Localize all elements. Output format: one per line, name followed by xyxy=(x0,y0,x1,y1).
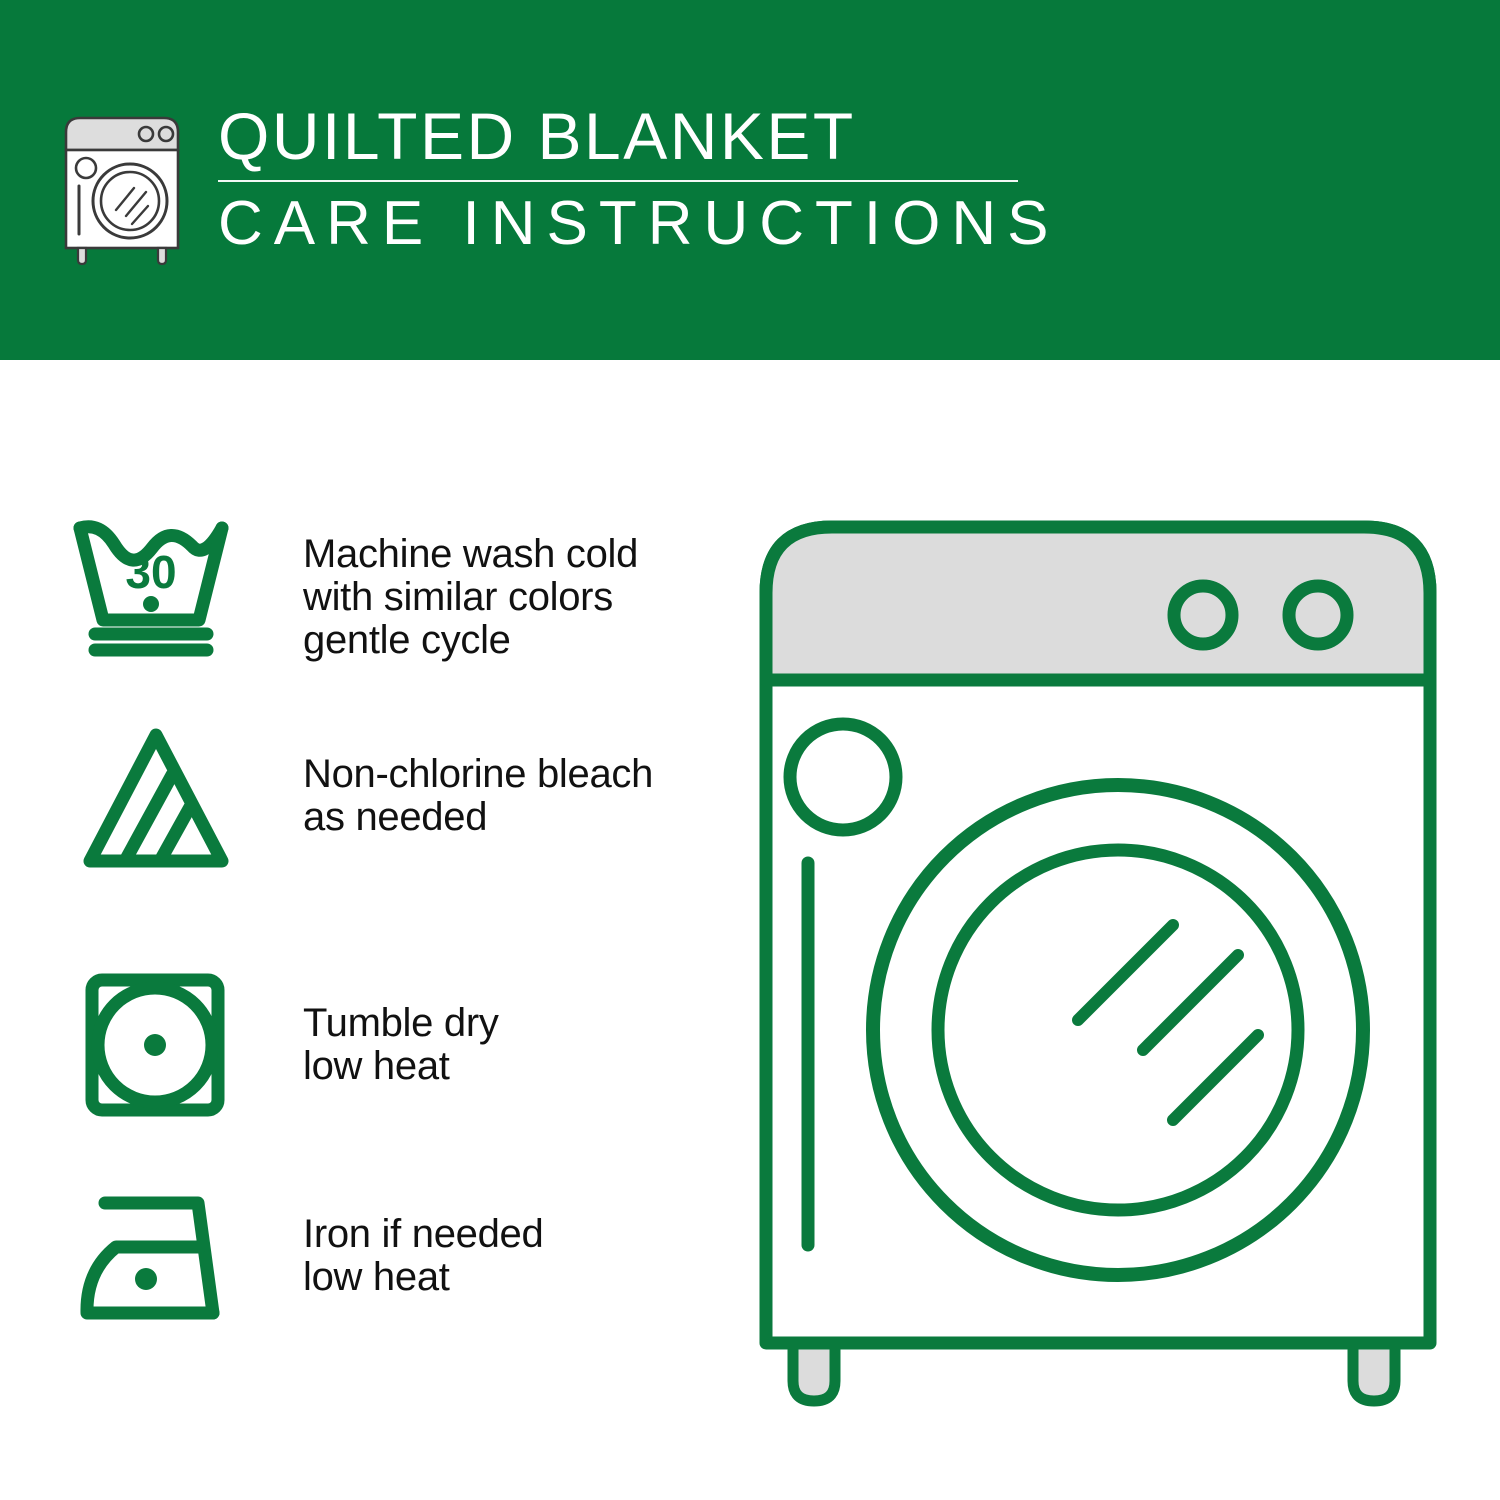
care-instruction-text: Non-chlorine bleach as needed xyxy=(240,723,720,839)
care-text-line: gentle cycle xyxy=(303,619,720,662)
care-instruction-row: Iron if needed low heat xyxy=(60,1185,720,1335)
care-text-line: low heat xyxy=(303,1256,720,1299)
care-text-line: with similar colors xyxy=(303,576,720,619)
care-text-line: Non-chlorine bleach xyxy=(303,753,720,796)
bleach-triangle-non-chlorine-icon xyxy=(60,723,240,873)
front-load-washing-machine-illustration xyxy=(748,505,1448,1425)
header-band: QUILTED BLANKET CARE INSTRUCTIONS xyxy=(0,0,1500,360)
wash-tub-30-gentle-icon: 30 xyxy=(60,508,240,658)
title-divider xyxy=(218,180,1018,182)
iron-low-heat-icon xyxy=(60,1185,240,1335)
care-instruction-text: Machine wash cold with similar colors ge… xyxy=(240,508,720,662)
care-instruction-text: Tumble dry low heat xyxy=(240,970,720,1088)
page-subtitle: CARE INSTRUCTIONS xyxy=(218,188,1088,260)
header-content: QUILTED BLANKET CARE INSTRUCTIONS xyxy=(58,98,1058,278)
wash-temperature-value: 30 xyxy=(125,546,176,598)
care-text-line: low heat xyxy=(303,1045,720,1088)
washing-machine-icon xyxy=(58,106,186,266)
care-instruction-row: Non-chlorine bleach as needed xyxy=(60,723,720,873)
header-text-block: QUILTED BLANKET CARE INSTRUCTIONS xyxy=(218,98,1088,260)
care-instruction-text: Iron if needed low heat xyxy=(240,1185,720,1299)
page-title: QUILTED BLANKET xyxy=(218,98,1088,174)
care-instruction-row: Tumble dry low heat xyxy=(60,970,720,1120)
care-text-line: Tumble dry xyxy=(303,1002,720,1045)
care-instructions-poster: QUILTED BLANKET CARE INSTRUCTIONS xyxy=(0,0,1500,1500)
care-instruction-row: 30 Machine wash cold with similar colors… xyxy=(60,508,720,662)
care-text-line: Machine wash cold xyxy=(303,533,720,576)
tumble-dry-low-heat-icon xyxy=(60,970,240,1120)
care-text-line: Iron if needed xyxy=(303,1213,720,1256)
care-text-line: as needed xyxy=(303,796,720,839)
